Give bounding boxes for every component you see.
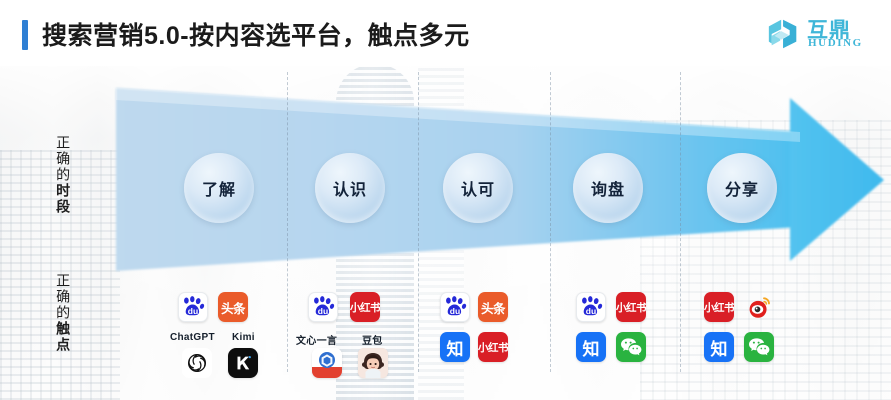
wechat-bubbles-glyph: [747, 335, 771, 359]
side-label-touchpoint: 正确的触点: [55, 273, 71, 353]
page-title: 搜索营销5.0-按内容选平台，触点多元: [42, 16, 470, 52]
title-accent-bar: [22, 20, 28, 50]
kimi-k-glyph: [232, 352, 254, 374]
side-label-emphasis: 时段: [55, 183, 71, 215]
xiaohongshu-icon[interactable]: 小红书: [704, 292, 734, 322]
touchpoint-column-5: 小红书 知: [700, 290, 810, 390]
xiaohongshu-icon[interactable]: 小红书: [478, 332, 508, 362]
stage-label: 询盘: [591, 176, 625, 200]
stage-bubble-3[interactable]: 认可: [443, 153, 513, 223]
baidu-paw-glyph: du: [579, 295, 603, 319]
baidu-icon[interactable]: du: [178, 292, 208, 322]
weibo-icon[interactable]: [744, 292, 774, 322]
baidu-icon[interactable]: du: [440, 292, 470, 322]
wenxinyiyan-icon[interactable]: [312, 348, 342, 378]
side-label-emphasis: 触点: [55, 321, 71, 353]
logo-en-text: HUDING: [808, 37, 863, 49]
toutiao-label: 头条: [481, 298, 505, 317]
doubao-avatar-glyph: [358, 348, 388, 378]
toutiao-icon[interactable]: 头条: [218, 292, 248, 322]
zhihu-label: 知: [447, 335, 464, 360]
stage-label: 分享: [725, 176, 759, 200]
side-label-timing: 正确的时段: [55, 135, 71, 215]
slide-header: 搜索营销5.0-按内容选平台，触点多元 互鼎 HUDING: [0, 0, 891, 66]
wechat-bubbles-glyph: [619, 335, 643, 359]
xiaohongshu-icon[interactable]: 小红书: [350, 292, 380, 322]
touchpoint-column-4: du 小红书 知: [572, 290, 682, 390]
svg-text:du: du: [586, 306, 596, 316]
stage-bubble-2[interactable]: 认识: [315, 153, 385, 223]
zhihu-icon[interactable]: 知: [440, 332, 470, 362]
touchpoint-column-1: du 头条 ChatGPT Kimi: [170, 290, 290, 390]
baidu-paw-glyph: du: [443, 295, 467, 319]
svg-text:du: du: [318, 306, 328, 316]
xiaohongshu-label: 小红书: [350, 300, 380, 315]
zhihu-label: 知: [711, 335, 728, 360]
toutiao-label: 头条: [221, 298, 245, 317]
xiaohongshu-label: 小红书: [616, 300, 646, 315]
stage-label: 认识: [333, 176, 367, 200]
stage-bubble-5[interactable]: 分享: [707, 153, 777, 223]
touchpoint-column-2: du 小红书 文心一言 豆包: [300, 290, 420, 390]
svg-text:du: du: [450, 306, 460, 316]
baidu-paw-glyph: du: [181, 295, 205, 319]
xiaohongshu-label: 小红书: [704, 300, 734, 315]
weibo-eye-glyph: [747, 295, 771, 319]
kimi-icon[interactable]: [228, 348, 258, 378]
baidu-paw-glyph: du: [311, 295, 335, 319]
baidu-icon[interactable]: du: [576, 292, 606, 322]
stage-label: 认可: [461, 176, 495, 200]
brand-logo: 互鼎 HUDING: [765, 12, 877, 56]
touchpoint-column-3: du 头条 知 小红书: [436, 290, 546, 390]
kimi-label: Kimi: [232, 332, 255, 343]
wenxinyiyan-label: 文心一言: [296, 332, 337, 347]
toutiao-icon[interactable]: 头条: [478, 292, 508, 322]
doubao-icon[interactable]: [358, 348, 388, 378]
baidu-icon[interactable]: du: [308, 292, 338, 322]
stage-bubble-1[interactable]: 了解: [184, 153, 254, 223]
cube-logo-icon: [765, 16, 803, 52]
svg-text:du: du: [188, 306, 198, 316]
zhihu-icon[interactable]: 知: [704, 332, 734, 362]
xiaohongshu-label: 小红书: [478, 340, 508, 355]
side-label-prefix: 正确的: [55, 135, 71, 183]
chatgpt-knot-glyph: [185, 351, 209, 375]
doubao-label: 豆包: [362, 332, 383, 347]
wechat-icon[interactable]: [744, 332, 774, 362]
zhihu-label: 知: [583, 335, 600, 360]
xiaohongshu-icon[interactable]: 小红书: [616, 292, 646, 322]
chatgpt-label: ChatGPT: [170, 332, 215, 343]
side-label-prefix: 正确的: [55, 273, 71, 321]
stage-label: 了解: [202, 176, 236, 200]
zhihu-icon[interactable]: 知: [576, 332, 606, 362]
wenxin-cube-glyph: [312, 348, 342, 378]
chatgpt-icon[interactable]: [182, 348, 212, 378]
wechat-icon[interactable]: [616, 332, 646, 362]
stage-bubble-4[interactable]: 询盘: [573, 153, 643, 223]
column-divider: [550, 72, 551, 372]
slide-canvas: 搜索营销5.0-按内容选平台，触点多元 互鼎 HUDING: [0, 0, 891, 400]
